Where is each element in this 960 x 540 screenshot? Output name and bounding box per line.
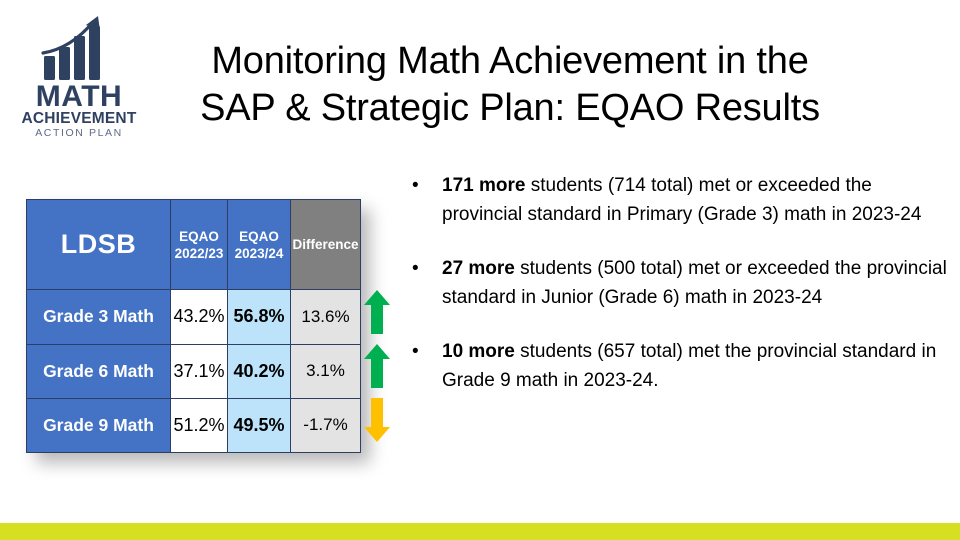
table-cell-grade-3-curr: 56.8% [228,290,291,344]
table-cell-grade-9-difference: -1.7% [291,398,361,452]
table-header-difference: Difference [291,200,361,290]
table-header-eqao-2022-23: EQAO 2022/23 [171,200,228,290]
bullet-lead-text: 171 more [442,175,525,196]
table-row: Grade 9 Math 51.2% 49.5% -1.7% [27,398,361,452]
table-header-eqao-2023-24: EQAO 2023/24 [228,200,291,290]
table-cell-grade-6-prev: 37.1% [171,344,228,398]
bullet-marker-icon: • [412,172,419,201]
page-title: Monitoring Math Achievement in the SAP &… [150,38,870,132]
page-title-line-2: SAP & Strategic Plan: EQAO Results [150,85,870,132]
table-header-eqao-2023-24-line1: EQAO [228,228,290,245]
summary-bullet-list: • 171 more students (714 total) met or e… [400,172,948,395]
table-header-eqao-2023-24-line2: 2023/24 [228,245,290,262]
eqao-results-table: LDSB EQAO 2022/23 EQAO 2023/24 Differenc… [26,199,361,453]
logo-graphic: MATH ACHIEVEMENT ACTION PLAN [16,6,142,138]
bullet-body-text: students (657 total) met the provincial … [442,341,936,391]
table-row-label-grade-3: Grade 3 Math [27,290,171,344]
table-header-ldsb: LDSB [27,200,171,290]
bullet-lead-text: 27 more [442,258,515,279]
arrow-down-icon [363,397,391,443]
table-cell-grade-3-difference: 13.6% [291,290,361,344]
arrow-up-icon [363,343,391,389]
math-achievement-action-plan-logo: MATH ACHIEVEMENT ACTION PLAN [16,6,142,138]
list-item: • 171 more students (714 total) met or e… [400,172,948,229]
page-title-line-1: Monitoring Math Achievement in the [150,38,870,85]
table-row-label-grade-6: Grade 6 Math [27,344,171,398]
table-cell-grade-9-curr: 49.5% [228,398,291,452]
table-row: Grade 3 Math 43.2% 56.8% 13.6% [27,290,361,344]
bullet-marker-icon: • [412,338,419,367]
list-item: • 10 more students (657 total) met the p… [400,338,948,395]
logo-word-action-plan: ACTION PLAN [35,127,123,138]
table-row-label-grade-9: Grade 9 Math [27,398,171,452]
arrow-up-icon [363,289,391,335]
table-cell-grade-9-prev: 51.2% [171,398,228,452]
logo-word-math: MATH [36,80,122,113]
bullet-marker-icon: • [412,255,419,284]
bullet-body-text: students (500 total) met or exceeded the… [442,258,947,308]
bottom-accent-bar [0,523,960,540]
table-header-eqao-2022-23-line1: EQAO [171,228,227,245]
list-item: • 27 more students (500 total) met or ex… [400,255,948,312]
bullet-lead-text: 10 more [442,341,515,362]
logo-word-achievement: ACHIEVEMENT [21,110,136,127]
trend-arrow-group [363,289,393,453]
table-row: Grade 6 Math 37.1% 40.2% 3.1% [27,344,361,398]
table-header-eqao-2022-23-line2: 2022/23 [171,245,227,262]
slide-canvas: MATH ACHIEVEMENT ACTION PLAN Monitoring … [0,0,960,540]
table-cell-grade-6-difference: 3.1% [291,344,361,398]
table-cell-grade-6-curr: 40.2% [228,344,291,398]
table-cell-grade-3-prev: 43.2% [171,290,228,344]
table-header-row: LDSB EQAO 2022/23 EQAO 2023/24 Differenc… [27,200,361,290]
